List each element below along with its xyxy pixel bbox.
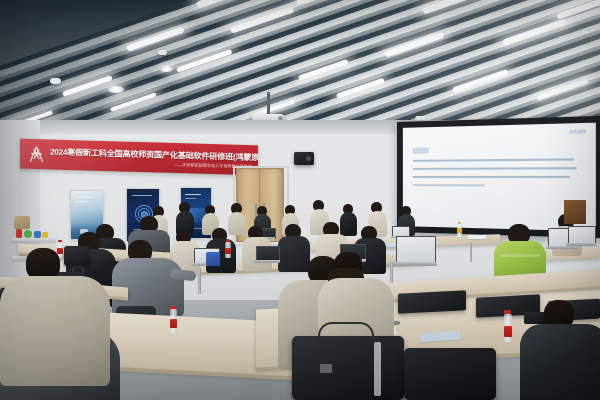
slide-text-line xyxy=(413,184,485,187)
bag-tag xyxy=(320,364,332,373)
bag-zipper-strip xyxy=(374,342,381,396)
shelf-item-yellow xyxy=(42,232,48,238)
speaker-cone xyxy=(306,156,311,161)
wall-speaker xyxy=(294,152,314,165)
shelf-item-blue xyxy=(34,231,41,238)
shelf-item-green xyxy=(24,230,32,238)
shelf-item-red xyxy=(16,229,22,238)
shelf-item-box xyxy=(14,216,30,229)
ceiling-sensor xyxy=(50,78,61,84)
chair[interactable] xyxy=(64,246,90,266)
ceiling xyxy=(0,0,600,138)
slide-text-line xyxy=(413,158,575,162)
organization-logo-icon xyxy=(26,144,47,166)
classroom-photo: 2024寒假新工科全国高校师资国产化基础软件研修班(鸿蒙原生应用) ——天府新区… xyxy=(0,0,600,400)
slide-text-line xyxy=(413,167,577,170)
ceiling-downlight xyxy=(108,86,124,93)
slide-text-line xyxy=(413,176,570,179)
laptop-bag[interactable] xyxy=(292,336,404,400)
paper-sheet xyxy=(468,235,486,239)
chair[interactable] xyxy=(398,290,466,314)
table-leg xyxy=(470,242,472,262)
ceiling-sensor xyxy=(158,50,167,55)
bag-handle[interactable] xyxy=(318,322,374,342)
wooden-cabinet xyxy=(564,200,586,224)
ceiling-downlight xyxy=(160,66,173,72)
slide-heading-badge xyxy=(413,147,429,153)
blue-box xyxy=(206,252,220,266)
slide-logo: 天府超算 xyxy=(569,128,586,134)
wall-shelf xyxy=(12,238,56,242)
laptop-bag[interactable] xyxy=(404,348,496,400)
